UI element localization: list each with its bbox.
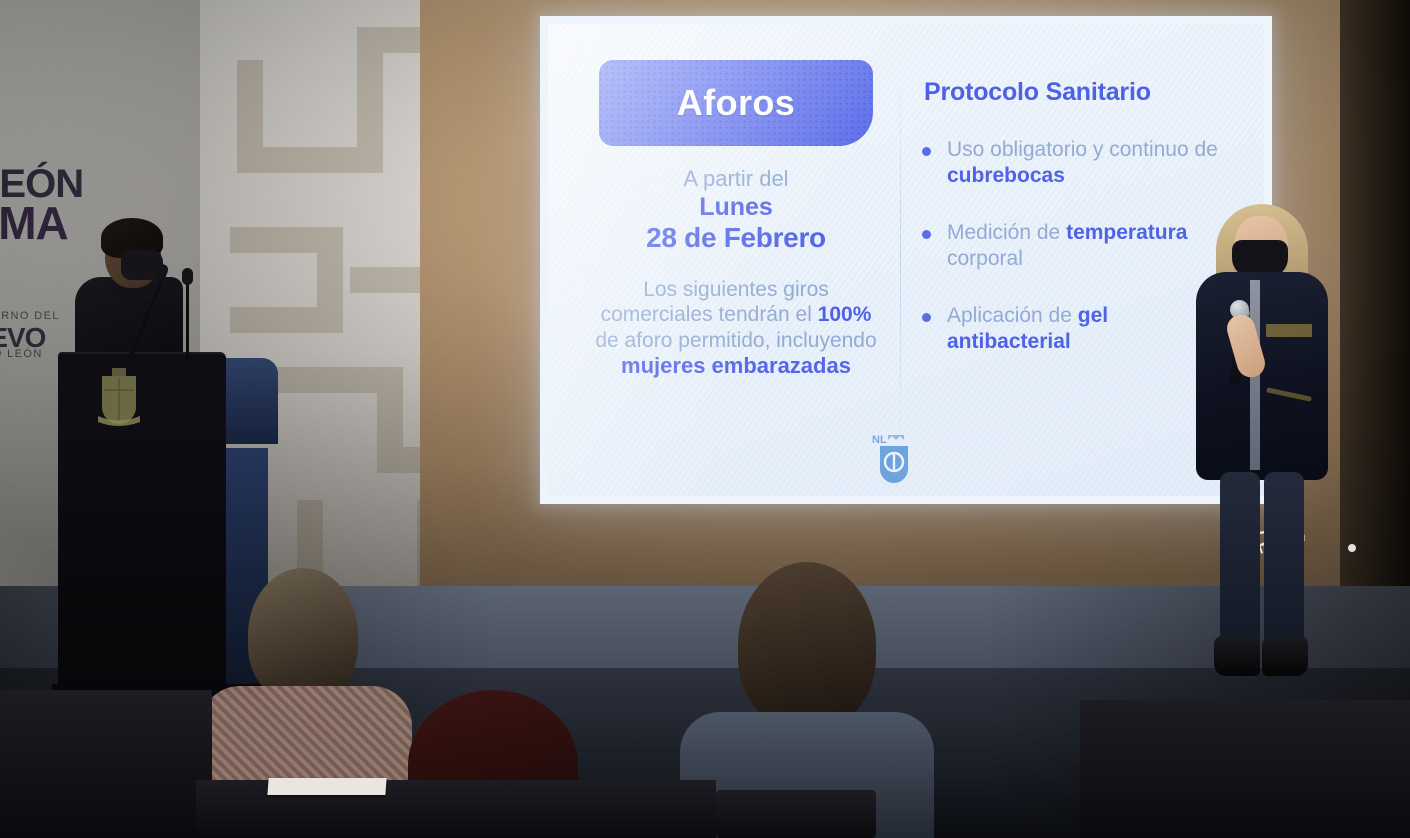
bullet-dot-icon	[922, 147, 931, 156]
date-label: 28 de Febrero	[586, 222, 886, 254]
bullet-1-before: Uso obligatorio y continuo de	[947, 138, 1218, 161]
foreground-shadow-right	[1080, 700, 1410, 838]
podium-top	[58, 352, 226, 442]
paragraph-percent: 100%	[818, 303, 872, 326]
bullet-2-before: Medición de	[947, 221, 1066, 244]
presentation-slide: Aforos A partir del Lunes 28 de Febrero …	[548, 24, 1264, 496]
microphone-right-head	[182, 268, 193, 285]
presenter-leg-left	[1220, 472, 1260, 654]
nl-logo-mark: NL	[872, 434, 887, 446]
audience-name-card	[267, 778, 386, 795]
press-conference-photo: LEÓN RMA IERNO DEL UEVO VO LEÓN L L NUEV…	[0, 0, 1410, 838]
bullet-text: Uso obligatorio y continuo de cubrebocas	[947, 137, 1230, 190]
presenter-jacket-badge	[1266, 324, 1312, 337]
bullet-2-bold: temperatura	[1066, 221, 1187, 244]
slide-right-column: Protocolo Sanitario Uso obligatorio y co…	[920, 78, 1230, 386]
bullet-dot-icon	[922, 313, 931, 322]
bullet-2-after: corporal	[947, 247, 1023, 270]
nuevo-leon-coat-of-arms	[96, 364, 142, 426]
presenter-boot-right	[1262, 636, 1308, 676]
presenter-jacket	[1196, 272, 1328, 480]
aforo-paragraph: Los siguientes giros comerciales tendrán…	[586, 277, 886, 381]
bullet-1-bold: cubrebocas	[947, 164, 1065, 187]
audience-head	[738, 562, 876, 728]
list-item: Uso obligatorio y continuo de cubrebocas	[920, 137, 1230, 190]
audience-head	[248, 568, 358, 702]
bullet-3-before: Aplicación de	[947, 304, 1078, 327]
presenter-boot-left	[1214, 636, 1260, 676]
microphone-right	[186, 282, 189, 364]
list-item: Aplicación de gel antibacterial	[920, 303, 1230, 356]
foreground-shadow-left	[0, 690, 212, 838]
list-item: Medición de temperatura corporal	[920, 220, 1230, 273]
bullet-dot-icon	[922, 230, 931, 239]
paragraph-part2: de aforo permitido, incluyendo	[595, 329, 876, 352]
paragraph-strong: mujeres embarazadas	[621, 353, 851, 378]
aforos-header-label: Aforos	[677, 82, 795, 124]
presenter	[1188, 196, 1333, 688]
crown-icon	[888, 435, 904, 440]
slide-column-divider	[900, 70, 901, 462]
aforos-header-box: Aforos	[599, 60, 873, 146]
lead-line: A partir del	[586, 166, 886, 192]
foreground-chair-right	[716, 790, 876, 838]
name-card-text	[268, 781, 386, 786]
wall-mark-dot	[1348, 544, 1356, 552]
presenter-leg-right	[1264, 472, 1304, 654]
protocolo-title: Protocolo Sanitario	[924, 78, 1230, 107]
day-label: Lunes	[586, 192, 886, 223]
podium-body	[58, 440, 226, 692]
nl-shield-logo: NL	[870, 432, 914, 484]
paragraph-el: el	[796, 303, 818, 326]
slide-left-column: Aforos A partir del Lunes 28 de Febrero …	[586, 60, 886, 380]
